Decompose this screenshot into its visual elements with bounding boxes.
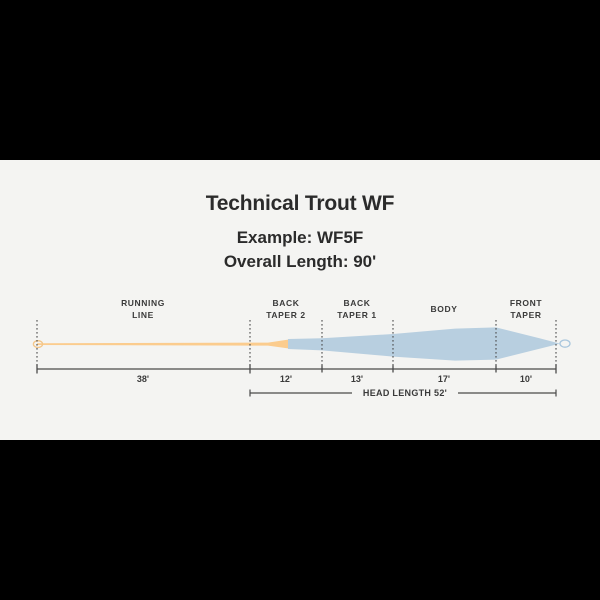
screenshot-root: Technical Trout WF Example: WF5F Overall… xyxy=(0,0,600,600)
dimension-front-taper: 10' xyxy=(520,374,532,384)
diagram-panel: Technical Trout WF Example: WF5F Overall… xyxy=(0,160,600,440)
segment-label-back-taper-1-2: TAPER 1 xyxy=(337,310,376,320)
head-length-label: HEAD LENGTH 52' xyxy=(363,388,447,398)
dimension-body: 17' xyxy=(438,374,450,384)
segment-label-running-line-2: LINE xyxy=(132,310,154,320)
segment-label-back-taper-2-2: TAPER 2 xyxy=(266,310,305,320)
segment-label-back-taper-2-1: BACK xyxy=(273,298,300,308)
segment-label-body: BODY xyxy=(431,304,458,314)
segment-label-front-taper-2: TAPER xyxy=(510,310,541,320)
head-taper-shape xyxy=(288,327,560,360)
dimension-back-taper-2: 12' xyxy=(280,374,292,384)
letterbox-top xyxy=(0,0,600,160)
segment-label-running-line-1: RUNNING xyxy=(121,298,165,308)
fly-line-taper-diagram: RUNNING LINE BACK TAPER 2 BACK TAPER 1 B… xyxy=(0,160,600,440)
letterbox-bottom xyxy=(0,440,600,600)
segment-label-back-taper-1-1: BACK xyxy=(344,298,371,308)
dimension-running-line: 38' xyxy=(137,374,149,384)
segment-label-front-taper-1: FRONT xyxy=(510,298,542,308)
front-loop-icon xyxy=(560,340,570,347)
dimension-back-taper-1: 13' xyxy=(351,374,363,384)
